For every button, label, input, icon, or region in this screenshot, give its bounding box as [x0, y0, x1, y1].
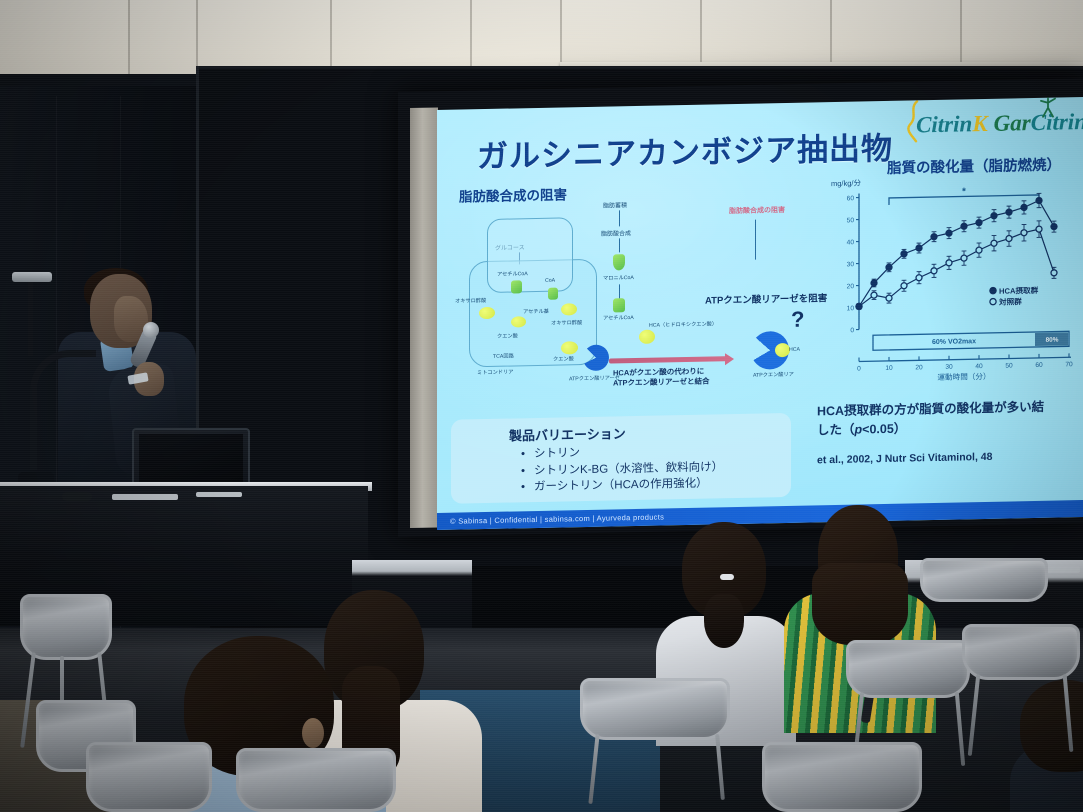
- molecule-shape: [548, 288, 558, 300]
- chair-backrest: [86, 742, 212, 812]
- product-list: シトリン シトリンK-BG（水溶性、飲料向け） ガーシトリン（HCAの作用強化）: [521, 442, 723, 496]
- chair-backrest: [580, 678, 730, 740]
- citrink-logo: CitrinK: [916, 111, 988, 138]
- garcitrin-logo: GarCitrin: [994, 109, 1083, 137]
- chair-backrest: [962, 624, 1080, 680]
- y-axis-unit-label: mg/kg/分: [831, 177, 861, 189]
- conclusion-line2-post: <0.05）: [862, 421, 906, 436]
- molecule-shape: [613, 298, 625, 312]
- pathway-label: オキサロ酢酸: [551, 319, 582, 327]
- presentation-slide: ガルシニアカンボジア抽出物 CitrinK GarCitrin 脂肪酸合成の阻害…: [437, 97, 1083, 530]
- pathway-label: クエン酸: [497, 332, 518, 339]
- molecule-shape: [613, 254, 625, 270]
- svg-text:60% VO2max: 60% VO2max: [932, 338, 976, 346]
- citrink-logo-text: Citrin: [916, 111, 972, 137]
- folding-chair: [580, 678, 730, 740]
- audience-ponytail: [704, 594, 744, 648]
- pathway-label: ミトコンドリア: [477, 368, 513, 376]
- product-box-title: 製品バリエーション: [509, 423, 626, 444]
- svg-text:10: 10: [847, 305, 855, 312]
- podium-lamp-shade: [12, 272, 52, 282]
- chair-backrest: [846, 640, 970, 698]
- svg-text:0: 0: [857, 365, 861, 372]
- screen-left-edge-strip: [410, 107, 438, 528]
- pathway-label: アセチル基: [523, 308, 549, 316]
- metabolic-pathway-diagram: 脂肪蓄積 脂肪酸合成 マロニルCoA アセチルCoA グルコース アセチルCoA…: [453, 198, 843, 416]
- audience-ear: [302, 718, 324, 748]
- pathway-label: オキサロ酢酸: [455, 297, 486, 305]
- molecule-shape: [511, 280, 522, 293]
- question-mark: ?: [791, 307, 804, 333]
- atp-inhibit-text: ATPクエン酸リアーゼを阻害: [705, 290, 827, 306]
- pathway-connector: [755, 220, 756, 260]
- folding-chair: [86, 742, 212, 812]
- folding-chair: [962, 624, 1080, 680]
- svg-text:運動時間（分）: 運動時間（分）: [937, 372, 990, 382]
- svg-text:60: 60: [1035, 362, 1043, 369]
- conclusion-text: HCA摂取群の方が脂質の酸化量が多い結 した（p<0.05）: [817, 397, 1079, 440]
- ceiling-seam: [560, 0, 562, 70]
- gooseneck-lamp-arm: [30, 350, 96, 470]
- svg-text:50: 50: [1005, 362, 1013, 369]
- pathway-arrow: [619, 284, 620, 298]
- chart-plot-area: 0102030405060*HCA摂取群対照群60% VO2max80%0102…: [825, 175, 1075, 392]
- garcitrin-figure-icon: [1038, 97, 1058, 120]
- ceiling-seam: [830, 0, 832, 64]
- product-list-item: ガーシトリン（HCAの作用強化）: [521, 476, 723, 497]
- svg-text:50: 50: [847, 217, 855, 224]
- conclusion-line2-pre: した（: [817, 422, 855, 437]
- chair-backrest: [920, 558, 1048, 602]
- desk-device: [62, 492, 92, 501]
- svg-text:80%: 80%: [1046, 337, 1059, 344]
- folding-chair: [920, 558, 1048, 602]
- audience-long-hair: [812, 563, 908, 645]
- chair-backrest: [236, 748, 396, 812]
- pathway-label: 脂肪酸合成: [601, 228, 631, 238]
- svg-text:10: 10: [885, 365, 893, 372]
- pathway-label: アセチルCoA: [603, 314, 634, 322]
- svg-text:20: 20: [847, 283, 855, 290]
- svg-text:60: 60: [847, 195, 855, 202]
- svg-text:30: 30: [847, 261, 855, 268]
- hair-clip: [720, 574, 734, 580]
- svg-text:40: 40: [847, 239, 855, 246]
- pathway-arrow: [619, 210, 620, 226]
- pathway-label: クエン酸: [553, 355, 574, 362]
- pathway-label: HCA: [789, 347, 800, 353]
- chair-backrest: [762, 742, 922, 812]
- folding-chair: [762, 742, 922, 812]
- citrink-swoosh-icon: [904, 100, 922, 142]
- pathway-arrow: [619, 238, 620, 252]
- pathway-label: TCA回路: [493, 352, 514, 359]
- svg-text:HCA摂取群: HCA摂取群: [999, 285, 1039, 296]
- svg-text:0: 0: [850, 327, 854, 334]
- folding-chair: [20, 594, 112, 660]
- hca-molecule: [639, 330, 655, 344]
- ceiling-seam: [700, 0, 702, 66]
- chair-backrest: [20, 594, 112, 660]
- fat-oxidation-chart: mg/kg/分 0102030405060*HCA摂取群対照群60% VO2ma…: [825, 175, 1075, 392]
- svg-text:20: 20: [915, 364, 923, 371]
- folding-chair: [236, 748, 396, 812]
- microphone-head-icon: [143, 322, 159, 338]
- ceiling-seam: [960, 0, 962, 62]
- product-variations-box: 製品バリエーション シトリン シトリンK-BG（水溶性、飲料向け） ガーシトリン…: [451, 413, 791, 504]
- pink-heading: 脂肪酸合成の阻害: [729, 205, 785, 216]
- brand-logos: CitrinK GarCitrin: [916, 109, 1083, 138]
- svg-text:40: 40: [975, 363, 983, 370]
- right-section-title: 脂質の酸化量（脂肪燃焼）: [887, 153, 1061, 177]
- pathway-label: ATPクエン酸リア: [753, 371, 794, 379]
- podium-lamp-post: [28, 282, 33, 356]
- binding-arrow: [609, 356, 727, 363]
- svg-text:*: *: [962, 186, 966, 197]
- svg-text:70: 70: [1065, 361, 1073, 368]
- garcitrin-logo-gar: Gar: [994, 110, 1031, 136]
- audience-hair: [1020, 680, 1083, 772]
- p-value-symbol: p: [855, 422, 863, 436]
- citation-text: et al., 2002, J Nutr Sci Vitaminol, 48: [817, 449, 1079, 466]
- pathway-label: アセチルCoA: [497, 270, 528, 278]
- svg-text:30: 30: [945, 364, 953, 371]
- left-section-title: 脂肪酸合成の阻害: [459, 183, 567, 205]
- citrink-logo-k: K: [972, 111, 987, 136]
- slide-title: ガルシニアカンボジア抽出物: [477, 123, 893, 176]
- pathway-label: HCA（ヒドロキシクエン酸）: [649, 320, 717, 328]
- desk-paper: [196, 492, 242, 497]
- folding-chair: [846, 640, 970, 698]
- pathway-label: CoA: [545, 278, 555, 284]
- desk-paper: [112, 494, 178, 500]
- pathway-label: マロニルCoA: [603, 274, 634, 282]
- pathway-label: 脂肪蓄積: [603, 200, 627, 209]
- presenter-laptop: [132, 428, 250, 490]
- atp-citrate-lyase-enzyme: [583, 345, 609, 372]
- arrow-caption-line2: ATPクエン酸リアーゼと結合: [613, 377, 710, 389]
- slide-footer-text: © Sabinsa | Confidential | sabinsa.com |…: [450, 512, 664, 525]
- conclusion-line1: HCA摂取群の方が脂質の酸化量が多い結: [817, 400, 1044, 419]
- laptop-screen: [139, 434, 243, 482]
- mitochondria-inner-membrane: [487, 217, 573, 293]
- svg-text:対照群: 対照群: [998, 296, 1022, 306]
- presentation-room-photo: ガルシニアカンボジア抽出物 CitrinK GarCitrin 脂肪酸合成の阻害…: [0, 0, 1083, 812]
